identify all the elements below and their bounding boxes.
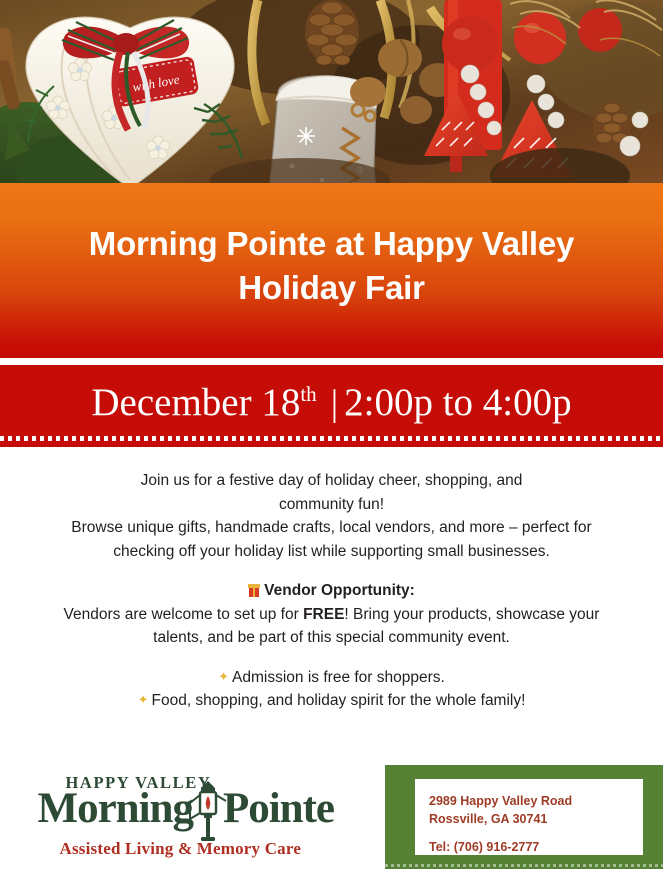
vendor-opportunity-label: Vendor Opportunity: [264,582,415,599]
date-time-separator: | [317,385,344,422]
bullet-admission: ✦Admission is free for shoppers. [60,666,603,690]
body-content: Join us for a festive day of holiday che… [0,447,663,713]
spacer-after-vendor [60,650,603,666]
logo-brand-morning: Morning [38,785,193,832]
title-banner: Morning Pointe at Happy Valley Holiday F… [0,183,663,358]
date-ordinal-suffix: th [300,382,316,406]
footer-dotted-divider [385,864,663,867]
event-time: 2:00p to 4:00p [344,381,572,424]
address-panel: 2989 Happy Valley Road Rossville, GA 307… [385,765,663,869]
gift-box-icon [248,584,260,597]
sparkles-icon: ✦ [218,668,229,688]
address-phone[interactable]: Tel: (706) 916-2777 [429,838,643,856]
address-city-state-zip: Rossville, GA 30741 [429,810,643,828]
vendor-description: Vendors are welcome to set up for FREE! … [60,603,603,650]
header-photo: with love [0,0,663,183]
bullet-admission-text: Admission is free for shoppers. [232,669,445,686]
address-spacer [429,828,643,838]
event-date: December 18 [91,381,300,424]
logo-brand-pointe: Pointe [223,785,334,832]
intro-line-2: community fun! [60,493,603,517]
dotted-divider [0,436,663,441]
intro-line-3: Browse unique gifts, handmade crafts, lo… [60,516,603,563]
spacer-after-intro [60,563,603,579]
vendor-free-emphasis: FREE [303,606,344,623]
event-title: Morning Pointe at Happy Valley Holiday F… [89,222,574,309]
event-title-line2: Holiday Fair [238,269,424,306]
intro-line-1: Join us for a festive day of holiday che… [60,469,603,493]
address-card: 2989 Happy Valley Road Rossville, GA 307… [415,779,643,855]
bullet-food-text: Food, shopping, and holiday spirit for t… [151,692,525,709]
vendor-opportunity-heading: Vendor Opportunity: [60,579,603,603]
logo-tagline: Assisted Living & Memory Care [60,839,302,859]
bullet-food: ✦Food, shopping, and holiday spirit for … [60,689,603,713]
sparkles-icon: ✦ [138,691,149,711]
holiday-fair-flyer: with love [0,0,663,869]
lamppost-icon [188,779,228,841]
logo-zone: HAPPY VALLEY MorningPointe Assisted Livi… [0,765,385,869]
vendor-text-before-free: Vendors are welcome to set up for [64,606,304,623]
christmas-ornaments-illustration: with love [0,0,663,183]
footer: HAPPY VALLEY MorningPointe Assisted Livi… [0,765,663,869]
event-title-line1: Morning Pointe at Happy Valley [89,225,574,262]
morning-pointe-logo: HAPPY VALLEY MorningPointe Assisted Livi… [38,771,358,863]
date-time-text: December 18th|2:00p to 4:00p [91,383,571,430]
address-street: 2989 Happy Valley Road [429,792,643,810]
date-time-bar: December 18th|2:00p to 4:00p [0,365,663,447]
banner-separator [0,358,663,365]
